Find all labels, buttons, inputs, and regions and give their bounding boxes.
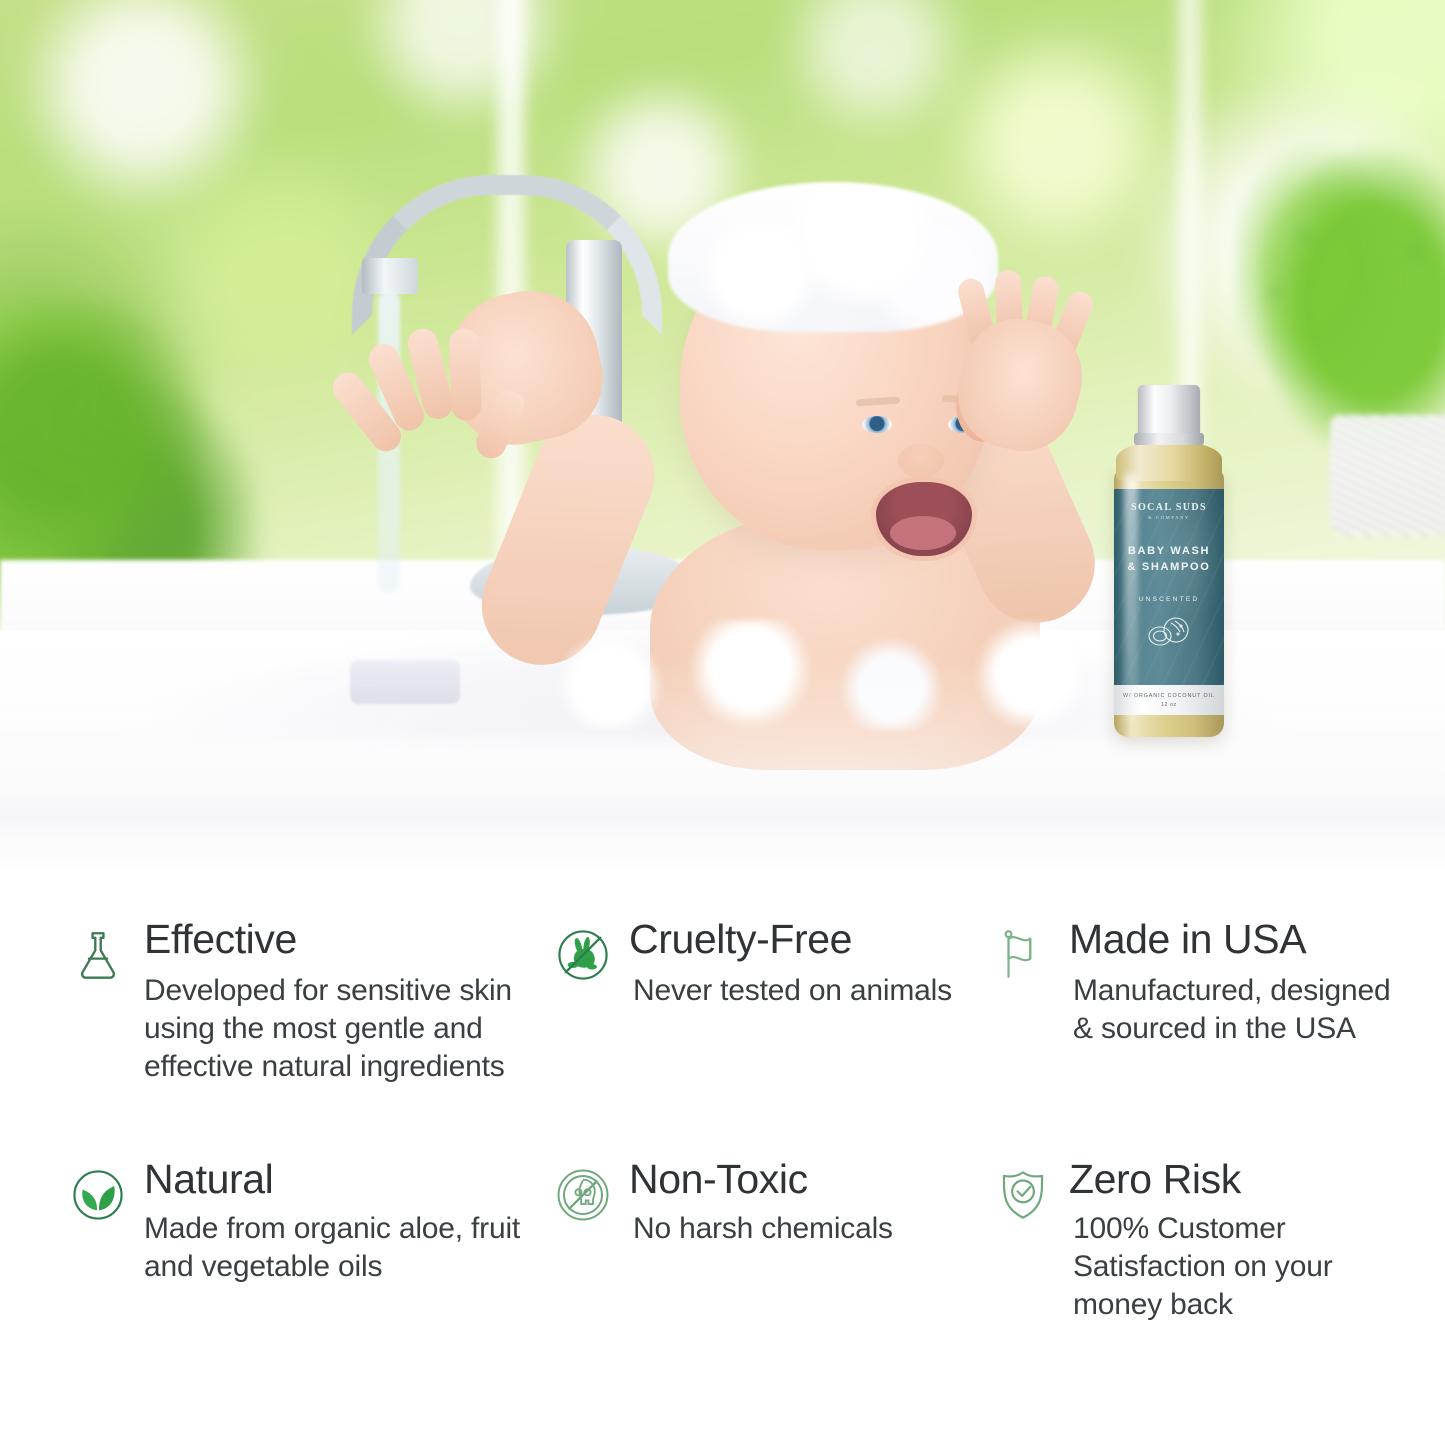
leaves-icon — [62, 1159, 134, 1231]
feature-made-in-usa: Made in USA Manufactured, designed & sou… — [987, 915, 1392, 1155]
no-animal-testing-rabbit-icon — [547, 919, 619, 991]
bottle-cap — [1138, 385, 1200, 437]
feature-zero-risk: Zero Risk 100% Customer Satisfaction on … — [987, 1155, 1392, 1323]
feature-title: Zero Risk — [1069, 1159, 1392, 1200]
shield-check-icon — [987, 1159, 1059, 1231]
feature-desc: Developed for sensitive skin using the m… — [144, 972, 547, 1085]
no-skull-icon — [547, 1159, 619, 1231]
soap-foam-on-head — [668, 182, 998, 332]
feature-title: Effective — [144, 919, 547, 960]
feature-effective: Effective Developed for sensitive skin u… — [62, 915, 547, 1155]
plant-basket — [1330, 415, 1445, 535]
feature-title: Cruelty-Free — [629, 919, 952, 960]
feature-cruelty-free: Cruelty-Free Never tested on animals — [547, 915, 987, 1155]
feature-desc: No harsh chemicals — [633, 1210, 893, 1248]
brand-suffix: & COMPANY — [1114, 515, 1224, 520]
faucet-aerator — [362, 258, 418, 294]
right-plant — [1235, 120, 1445, 450]
bottle-cap-lip — [1134, 433, 1204, 445]
feature-natural: Natural Made from organic aloe, fruit an… — [62, 1155, 547, 1323]
brand-name: SOCAL SUDS — [1114, 502, 1224, 513]
product-name-line1: BABY WASH — [1114, 544, 1224, 560]
product-scent: UNSCENTED — [1114, 596, 1224, 603]
feature-title: Non-Toxic — [629, 1159, 893, 1200]
eyebrow — [856, 396, 900, 406]
coconut-icon — [1141, 614, 1197, 648]
eye — [862, 416, 892, 433]
feature-desc: Manufactured, designed & sourced in the … — [1073, 972, 1392, 1048]
product-infographic: SOCAL SUDS & COMPANY BABY WASH & SHAMPOO… — [0, 0, 1445, 1445]
nose — [898, 444, 944, 478]
feature-non-toxic: Non-Toxic No harsh chemicals — [547, 1155, 987, 1323]
feature-desc: 100% Customer Satisfaction on your money… — [1073, 1210, 1392, 1323]
feature-title: Made in USA — [1069, 919, 1392, 960]
product-bottle: SOCAL SUDS & COMPANY BABY WASH & SHAMPOO… — [1108, 385, 1232, 740]
feature-desc: Made from organic aloe, fruit and vegeta… — [144, 1210, 547, 1286]
feature-title: Natural — [144, 1159, 547, 1200]
feature-desc: Never tested on animals — [633, 972, 952, 1010]
finger — [449, 328, 482, 421]
product-name-line2: & SHAMPOO — [1114, 560, 1224, 576]
flag-icon — [987, 919, 1059, 991]
tongue — [890, 516, 956, 550]
features-panel: Effective Developed for sensitive skin u… — [0, 915, 1445, 1445]
flask-icon — [62, 919, 134, 991]
